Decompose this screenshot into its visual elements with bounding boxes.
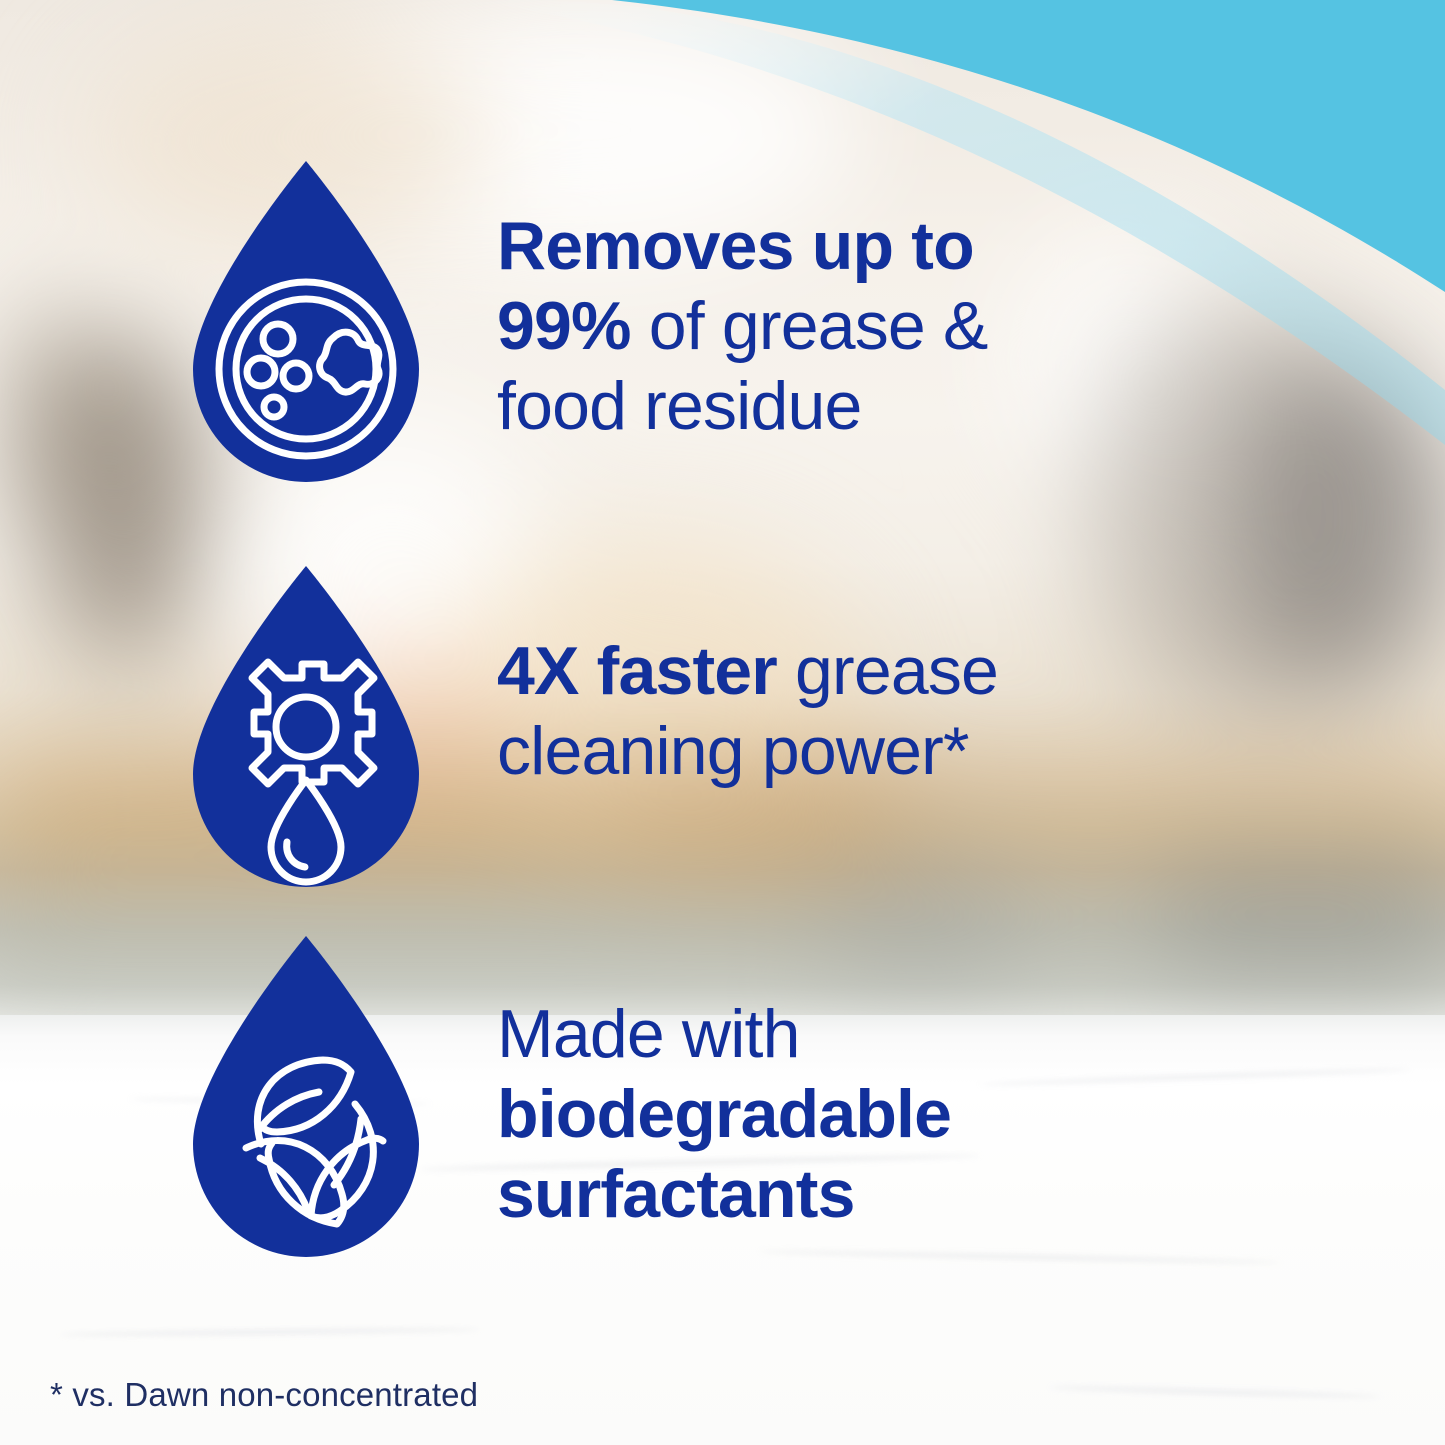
feature-item-biodegradable bbox=[183, 932, 429, 1264]
feature-2-line-1-regular: grease bbox=[777, 633, 998, 709]
droplet-shape bbox=[193, 161, 419, 482]
feature-text-biodegradable: Made with biodegradable surfactants bbox=[497, 995, 1177, 1235]
footnote-disclaimer: * vs. Dawn non-concentrated bbox=[50, 1376, 478, 1414]
feature-3-line-1-regular: Made with bbox=[497, 996, 800, 1072]
feature-2-line-1-bold: 4X faster bbox=[497, 633, 777, 709]
feature-1-line-2-regular: of grease & bbox=[631, 288, 988, 364]
feature-text-cleaning-power: 4X faster grease cleaning power* bbox=[497, 632, 1177, 792]
three-leaves-recycle-icon bbox=[183, 932, 429, 1264]
feature-item-grease-removal bbox=[183, 157, 429, 489]
feature-list: Removes up to 99% of grease & food resid… bbox=[0, 0, 1445, 1445]
gear-with-droplet-icon bbox=[183, 562, 429, 894]
feature-3-line-2-bold: biodegradable bbox=[497, 1076, 951, 1152]
feature-item-cleaning-power bbox=[183, 562, 429, 894]
feature-1-line-1-bold: Removes up to bbox=[497, 208, 974, 284]
feature-text-grease-removal: Removes up to 99% of grease & food resid… bbox=[497, 207, 1177, 447]
plate-with-bubbles-and-food-stain-icon bbox=[183, 157, 429, 489]
feature-1-line-2-bold: 99% bbox=[497, 288, 631, 364]
feature-1-line-3-regular: food residue bbox=[497, 368, 861, 444]
droplet-shape bbox=[193, 566, 419, 887]
feature-2-line-2-regular: cleaning power* bbox=[497, 713, 969, 789]
feature-3-line-3-bold: surfactants bbox=[497, 1156, 855, 1232]
infographic-canvas: Removes up to 99% of grease & food resid… bbox=[0, 0, 1445, 1445]
